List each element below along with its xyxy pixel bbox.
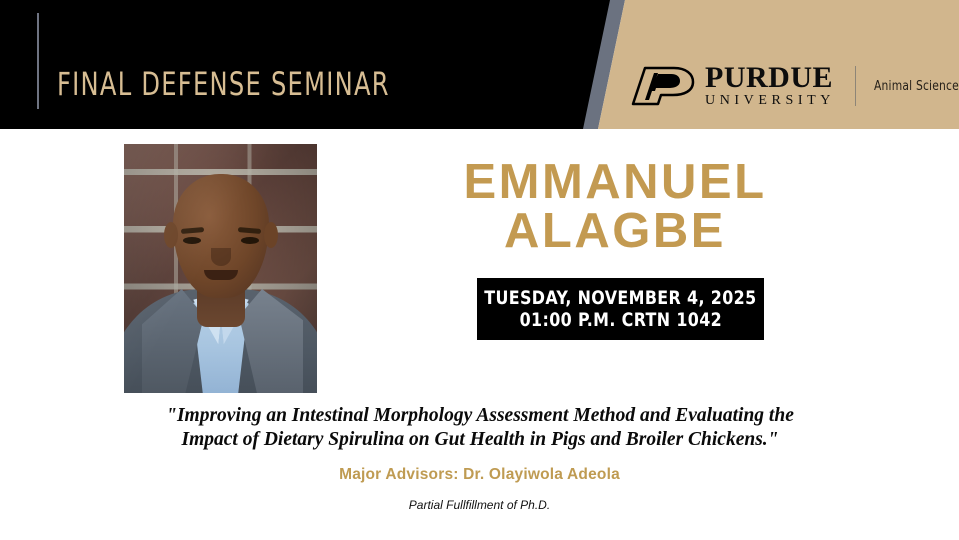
purdue-name: PURDUE xyxy=(705,64,835,93)
event-time-location: 01:00 P.M. CRTN 1042 xyxy=(519,309,721,331)
degree-fulfillment-note: Partial Fullfillment of Ph.D. xyxy=(0,498,959,512)
thesis-title: "Improving an Intestinal Morphology Asse… xyxy=(94,404,866,452)
presenter-first-name: EMMANUEL xyxy=(400,158,830,207)
header-accent-rule xyxy=(37,13,39,109)
poster-header: FINAL DEFENSE SEMINAR PURDUE UNIVERSITY … xyxy=(0,0,959,129)
portrait-mouth xyxy=(204,270,238,280)
purdue-logo-lockup: PURDUE UNIVERSITY Animal Sciences xyxy=(630,62,959,110)
lockup-divider xyxy=(855,66,856,106)
presenter-last-name: ALAGBE xyxy=(400,207,830,256)
poster-header-title: FINAL DEFENSE SEMINAR xyxy=(57,68,390,100)
portrait-eye-left xyxy=(183,237,201,244)
portrait-nose xyxy=(211,248,231,266)
portrait-ear-left xyxy=(164,222,178,248)
purdue-motion-p-icon xyxy=(630,65,696,107)
purdue-unit-name: Animal Sciences xyxy=(874,79,959,94)
event-date: TUESDAY, NOVEMBER 4, 2025 xyxy=(484,287,756,309)
seminar-poster: FINAL DEFENSE SEMINAR PURDUE UNIVERSITY … xyxy=(0,0,959,540)
presenter-name: EMMANUEL ALAGBE xyxy=(400,158,830,255)
purdue-subname: UNIVERSITY xyxy=(705,94,835,108)
portrait-ear-right xyxy=(264,222,278,248)
presenter-portrait-photo xyxy=(124,144,317,393)
event-datetime-block: TUESDAY, NOVEMBER 4, 2025 01:00 P.M. CRT… xyxy=(477,278,764,340)
thesis-title-line-1: "Improving an Intestinal Morphology Asse… xyxy=(94,404,866,428)
portrait-eye-right xyxy=(241,237,259,244)
major-advisor: Major Advisors: Dr. Olayiwola Adeola xyxy=(0,466,959,484)
purdue-wordmark: PURDUE UNIVERSITY xyxy=(705,64,835,109)
thesis-title-line-2: Impact of Dietary Spirulina on Gut Healt… xyxy=(94,428,866,452)
